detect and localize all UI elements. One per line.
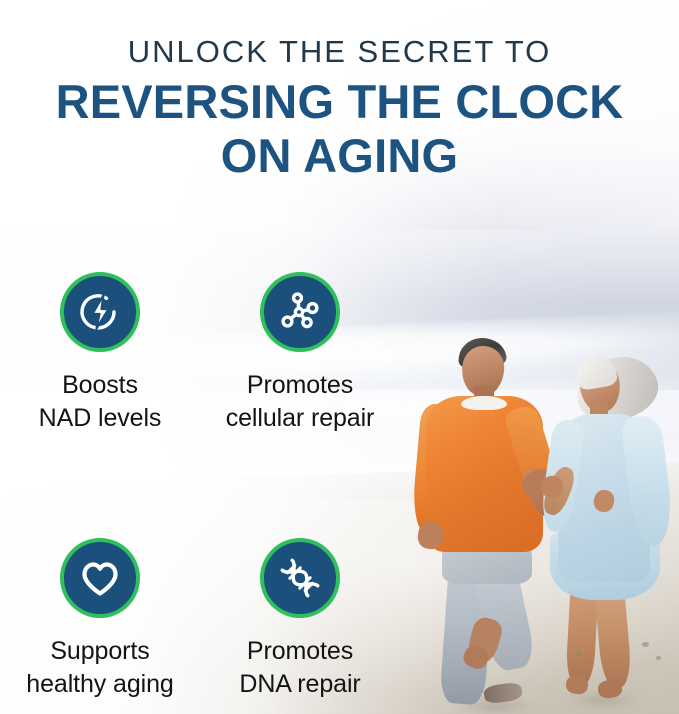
pebble	[656, 656, 661, 660]
benefit-item-boosts-nad-levels: Boosts NAD levels	[0, 272, 200, 434]
molecule-network-icon	[260, 272, 340, 352]
benefits-row-2: Supports healthy aging	[0, 538, 400, 700]
lightning-bolt-power-icon	[60, 272, 140, 352]
dna-helix-icon	[260, 538, 340, 618]
benefits-grid: Boosts NAD levels	[0, 272, 400, 700]
benefit-label: Promotes cellular repair	[226, 369, 375, 434]
man-shirt-collar	[461, 396, 507, 410]
benefit-label: Promotes DNA repair	[239, 635, 360, 700]
headline-block: UNLOCK THE SECRET TO REVERSING THE CLOCK…	[0, 36, 679, 182]
heart-outline-icon	[60, 538, 140, 618]
benefit-item-promotes-cellular-repair: Promotes cellular repair	[200, 272, 400, 434]
benefit-item-supports-healthy-aging: Supports healthy aging	[0, 538, 200, 700]
headline-line-3: ON AGING	[0, 130, 679, 183]
couple-running-photo	[398, 300, 679, 714]
headline-line-1: UNLOCK THE SECRET TO	[0, 36, 679, 69]
headline-line-2: REVERSING THE CLOCK	[0, 75, 679, 130]
benefit-item-promotes-dna-repair: Promotes DNA repair	[200, 538, 400, 700]
benefit-label: Supports healthy aging	[26, 635, 173, 700]
pebble	[642, 642, 649, 647]
benefit-label: Boosts NAD levels	[39, 369, 162, 434]
promotional-poster: UNLOCK THE SECRET TO REVERSING THE CLOCK…	[0, 0, 679, 714]
pebble	[576, 652, 582, 656]
benefits-row-1: Boosts NAD levels	[0, 272, 400, 434]
